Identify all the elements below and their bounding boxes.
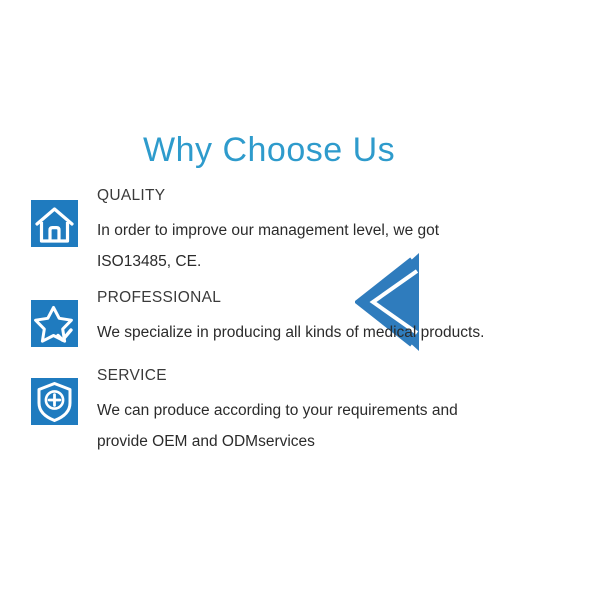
feature-text-line: We specialize in producing all kinds of … (97, 317, 577, 348)
feature-body: PROFESSIONAL We specialize in producing … (97, 288, 577, 348)
star-check-icon (31, 300, 78, 347)
feature-text-line: We can produce according to your require… (97, 395, 577, 426)
feature-body: QUALITY In order to improve our manageme… (97, 186, 577, 277)
feature-heading: QUALITY (97, 186, 577, 206)
page-title: Why Choose Us (143, 130, 395, 170)
feature-body: SERVICE We can produce according to your… (97, 366, 577, 457)
feature-heading: SERVICE (97, 366, 577, 386)
feature-heading: PROFESSIONAL (97, 288, 577, 308)
feature-text-line: ISO13485, CE. (97, 246, 577, 277)
why-choose-us-graphic: Why Choose Us QUALITY In order to i (0, 0, 600, 600)
home-icon (31, 200, 78, 247)
feature-text-line: In order to improve our management level… (97, 215, 577, 246)
feature-text-line: provide OEM and ODMservices (97, 426, 577, 457)
shield-plus-icon (31, 378, 78, 425)
